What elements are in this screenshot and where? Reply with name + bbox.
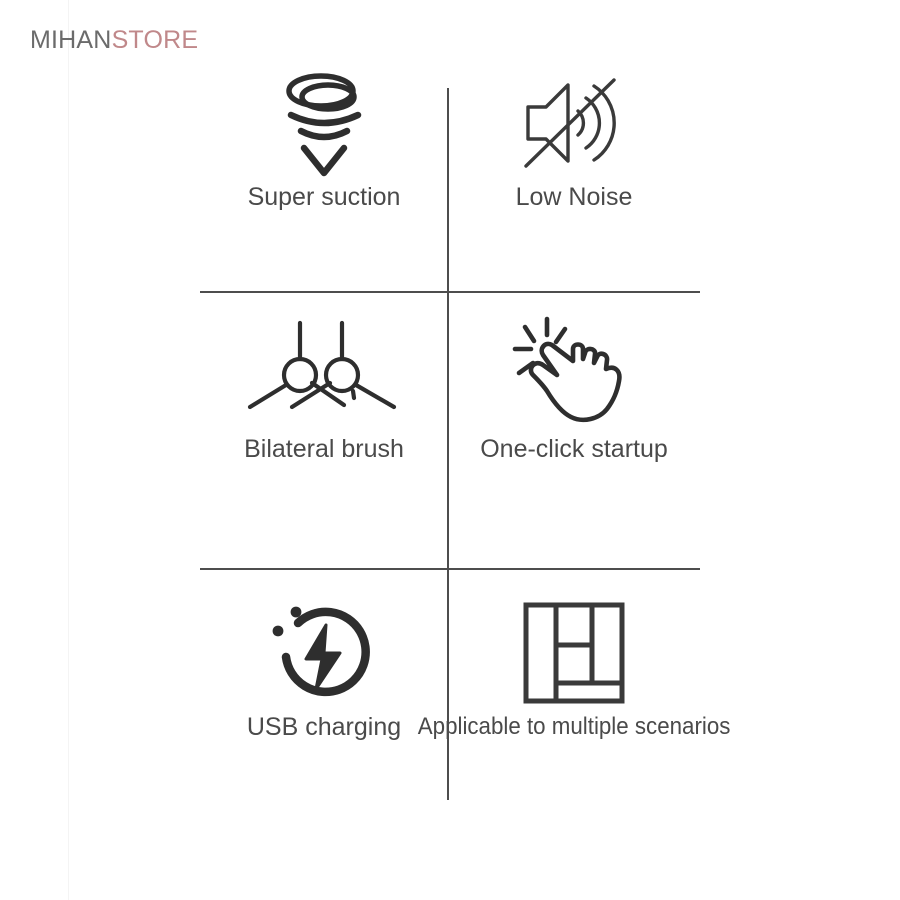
- divider-vertical: [447, 88, 449, 800]
- feature-label: Bilateral brush: [244, 437, 404, 462]
- feature-cell-low-noise: Low Noise: [448, 60, 700, 265]
- feature-grid: Super suction Low Noise: [200, 60, 700, 805]
- click-hand-icon: [509, 312, 639, 437]
- brand-logo-accent: STORE: [112, 26, 199, 54]
- feature-label: Applicable to multiple scenarios: [418, 715, 731, 739]
- brand-logo: MIHANSTORE: [30, 26, 198, 55]
- speaker-muted-icon: [518, 60, 630, 185]
- feature-cell-bilateral-brush: Bilateral brush: [200, 312, 448, 527]
- feature-cell-usb-charging: USB charging: [200, 590, 448, 805]
- feature-label: Low Noise: [516, 185, 633, 210]
- feature-cell-super-suction: Super suction: [200, 60, 448, 265]
- divider-horizontal-bottom: [200, 568, 700, 570]
- feature-label: One-click startup: [480, 437, 668, 462]
- dual-brush-icon: [244, 312, 404, 437]
- tornado-icon: [268, 60, 380, 185]
- brand-logo-primary: MIHAN: [30, 26, 112, 54]
- feature-label: Super suction: [248, 185, 401, 210]
- fast-charge-icon: [266, 590, 382, 715]
- divider-horizontal-top: [200, 291, 700, 293]
- feature-cell-multiple-scenarios: Applicable to multiple scenarios: [448, 590, 700, 805]
- feature-label: USB charging: [247, 715, 401, 740]
- layout-grid-icon: [522, 590, 626, 715]
- feature-cell-one-click-startup: One-click startup: [448, 312, 700, 527]
- background-seam: [68, 0, 69, 900]
